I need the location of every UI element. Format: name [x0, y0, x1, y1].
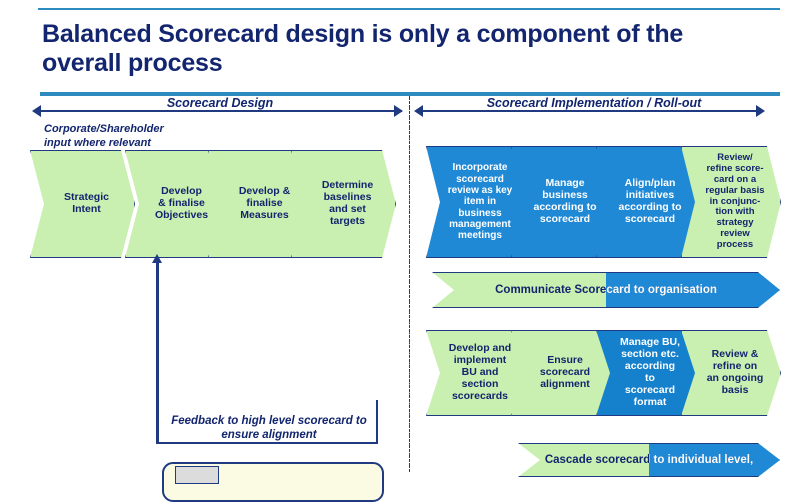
impl-arrow-head-right: [756, 105, 765, 117]
step-label: Ensure scorecard alignment: [524, 355, 606, 391]
step-label: Strategic Intent: [43, 192, 130, 216]
impl-step-incorporate-scorecard-review[interactable]: Incorporate scorecard review as key item…: [426, 146, 526, 258]
step-label: Manage BU, section etc. according to sco…: [609, 337, 691, 409]
phase-label-scorecard-design: Scorecard Design: [32, 96, 408, 110]
step-label: Review/ refine score- card on a regular …: [694, 153, 776, 250]
step-label: Develop and implement BU and section sco…: [439, 343, 521, 403]
bottom-note-card-tab: [175, 466, 219, 484]
design-step-strategic-intent[interactable]: Strategic Intent: [30, 150, 135, 258]
phase-label-scorecard-implementation: Scorecard Implementation / Roll-out: [414, 96, 774, 110]
feedback-arrow-head: [152, 254, 162, 263]
design-arrow-head-right: [394, 105, 403, 117]
step-label: Develop & finalise Measures: [221, 186, 308, 222]
caption-corporate-input: Corporate/Shareholder input where releva…: [44, 123, 244, 151]
step-label: Align/plan initiatives according to scor…: [609, 178, 691, 226]
bu-step-review-refine-ongoing[interactable]: Review & refine on an ongoing basis: [681, 330, 781, 416]
page-title: Balanced Scorecard design is only a comp…: [42, 20, 742, 79]
step-label: Incorporate scorecard review as key item…: [439, 162, 521, 242]
bu-step-manage-bu-section[interactable]: Manage BU, section etc. according to sco…: [596, 330, 696, 416]
communicate-scorecard-banner[interactable]: Communicate Scorecard to organisation Co…: [432, 272, 780, 308]
impl-step-manage-business[interactable]: Manage business according to scorecard: [511, 146, 611, 258]
phase-divider-line: [409, 96, 410, 472]
design-step-determine-baselines[interactable]: Determine baselines and set targets: [291, 150, 396, 258]
step-label: Determine baselines and set targets: [304, 180, 391, 228]
implementation-phase-arrow: [422, 110, 756, 112]
feedback-label: Feedback to high level scorecard to ensu…: [160, 414, 378, 443]
top-divider-rule: [38, 8, 780, 10]
design-phase-arrow: [40, 110, 402, 112]
step-label: Review & refine on an ongoing basis: [694, 349, 776, 397]
step-label: Manage business according to scorecard: [524, 178, 606, 226]
bu-step-ensure-scorecard-alignment[interactable]: Ensure scorecard alignment: [511, 330, 611, 416]
step-label: Develop & finalise Objectives: [138, 186, 225, 222]
bu-step-develop-implement-scorecards[interactable]: Develop and implement BU and section sco…: [426, 330, 526, 416]
impl-step-align-plan-initiatives[interactable]: Align/plan initiatives according to scor…: [596, 146, 696, 258]
impl-step-review-refine-scorecard[interactable]: Review/ refine score- card on a regular …: [681, 146, 781, 258]
